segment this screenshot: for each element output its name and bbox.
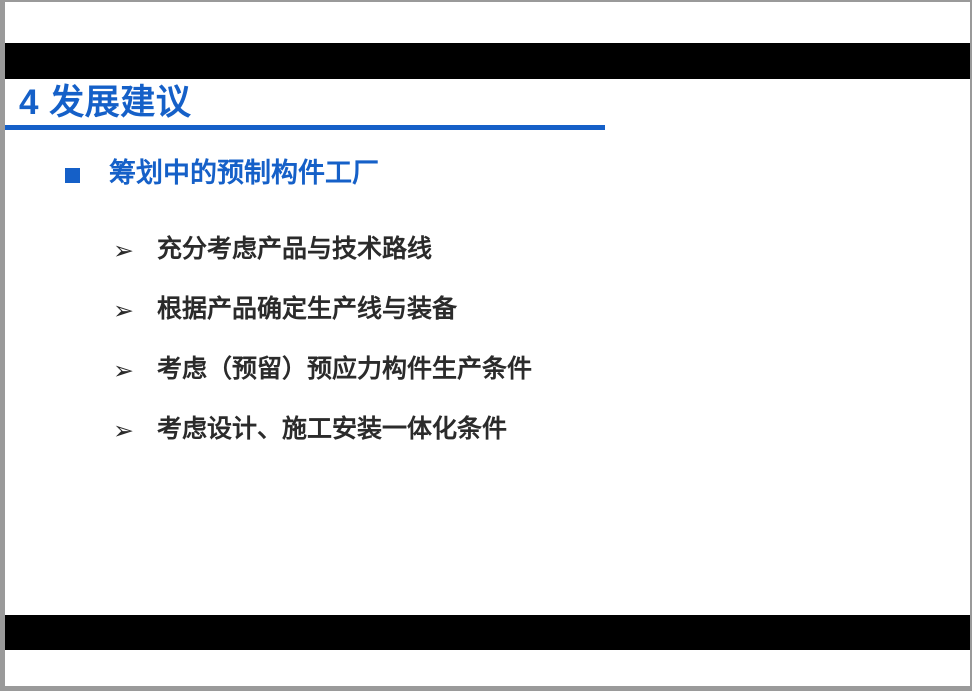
list-item: ➢ 充分考虑产品与技术路线 [5, 228, 970, 288]
list-item-label: 考虑（预留）预应力构件生产条件 [157, 350, 532, 388]
list-item: ➢ 考虑（预留）预应力构件生产条件 [5, 348, 970, 408]
top-decorative-band [5, 43, 970, 79]
list-item-label: 充分考虑产品与技术路线 [157, 230, 432, 268]
arrow-bullet-icon: ➢ [113, 414, 134, 448]
page-title: 4 发展建议 [19, 81, 191, 125]
bottom-decorative-band [5, 615, 970, 650]
arrow-bullet-icon: ➢ [113, 354, 134, 388]
list-item: ➢ 根据产品确定生产线与装备 [5, 288, 970, 348]
list-item-label: 根据产品确定生产线与装备 [157, 290, 457, 328]
heading-bullet-label: 筹划中的预制构件工厂 [109, 154, 379, 192]
sub-bullet-list: ➢ 充分考虑产品与技术路线 ➢ 根据产品确定生产线与装备 ➢ 考虑（预留）预应力… [5, 228, 970, 468]
arrow-bullet-icon: ➢ [113, 234, 134, 268]
slide-canvas: 4 发展建议 筹划中的预制构件工厂 ➢ 充分考虑产品与技术路线 ➢ 根据产品确定… [5, 2, 970, 686]
list-item: ➢ 考虑设计、施工安装一体化条件 [5, 408, 970, 468]
square-bullet-icon [65, 168, 80, 183]
slide-frame: 4 发展建议 筹划中的预制构件工厂 ➢ 充分考虑产品与技术路线 ➢ 根据产品确定… [0, 0, 972, 691]
slide-body: 筹划中的预制构件工厂 ➢ 充分考虑产品与技术路线 ➢ 根据产品确定生产线与装备 … [5, 152, 970, 198]
heading-bullet-row: 筹划中的预制构件工厂 [5, 152, 970, 198]
arrow-bullet-icon: ➢ [113, 294, 134, 328]
list-item-label: 考虑设计、施工安装一体化条件 [157, 410, 507, 448]
title-underline-rule [5, 125, 605, 130]
